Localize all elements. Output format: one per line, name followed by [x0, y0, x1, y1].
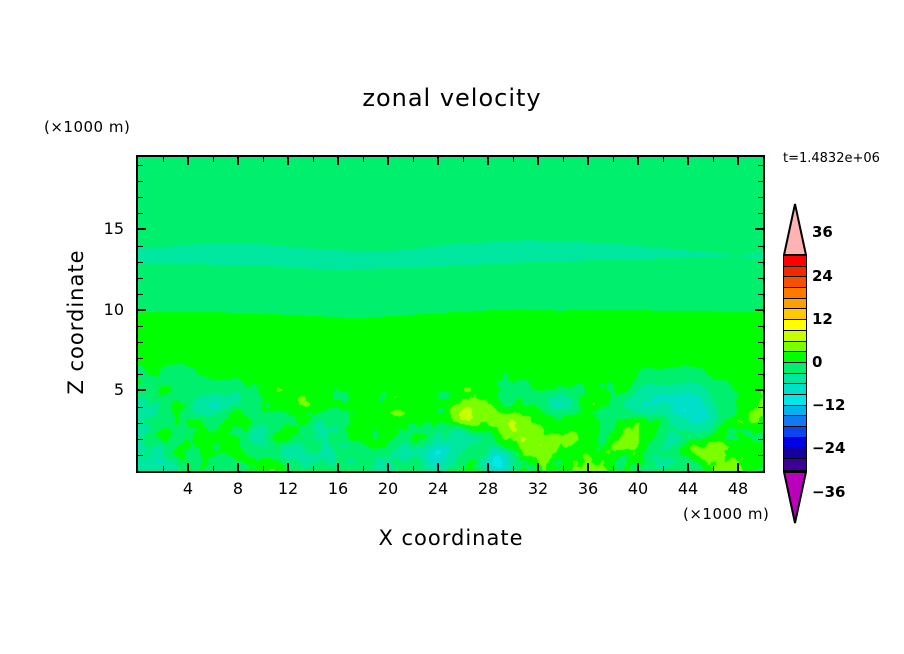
tick-x-major — [337, 157, 339, 165]
tick-x-major — [637, 157, 639, 165]
tick-x-minor — [163, 466, 164, 471]
tick-x-major — [287, 463, 289, 471]
tick-x-major — [187, 463, 189, 471]
x-tick-label: 16 — [318, 479, 358, 498]
tick-x-major — [687, 157, 689, 165]
figure-canvas: zonal velocity (×1000 m) (×1000 m) t=1.4… — [0, 0, 904, 654]
tick-x-minor — [663, 157, 664, 162]
tick-y-minor — [758, 246, 763, 247]
colorbar-tick-label: 12 — [812, 310, 833, 328]
tick-y-minor — [138, 423, 143, 424]
tick-x-minor — [163, 157, 164, 162]
tick-x-major — [587, 157, 589, 165]
colorbar-over-arrow — [783, 203, 807, 255]
tick-y-minor — [758, 439, 763, 440]
y-tick-label: 5 — [84, 380, 124, 399]
y-axis-unit-label: (×1000 m) — [44, 118, 130, 136]
colorbar-tick-label: 0 — [812, 353, 822, 371]
tick-x-major — [487, 463, 489, 471]
tick-y-minor — [758, 278, 763, 279]
tick-y-minor — [758, 262, 763, 263]
tick-x-major — [237, 157, 239, 165]
tick-x-major — [537, 157, 539, 165]
tick-y-minor — [758, 374, 763, 375]
tick-x-major — [487, 157, 489, 165]
x-tick-label: 40 — [618, 479, 658, 498]
tick-y-minor — [138, 294, 143, 295]
colorbar-band — [784, 342, 806, 353]
tick-x-major — [387, 463, 389, 471]
x-tick-label: 24 — [418, 479, 458, 498]
tick-y-major — [755, 389, 763, 391]
contour-field — [138, 157, 763, 471]
tick-x-minor — [213, 157, 214, 162]
colorbar — [783, 203, 807, 523]
tick-x-major — [337, 463, 339, 471]
x-tick-label: 32 — [518, 479, 558, 498]
tick-x-minor — [513, 157, 514, 162]
colorbar-band — [784, 288, 806, 299]
tick-y-minor — [758, 326, 763, 327]
colorbar-band — [784, 352, 806, 363]
y-tick-label: 15 — [84, 219, 124, 238]
tick-y-minor — [758, 423, 763, 424]
tick-x-major — [737, 157, 739, 165]
colorbar-band — [784, 267, 806, 278]
tick-x-major — [537, 463, 539, 471]
contour-plot-area — [136, 155, 765, 473]
y-axis-title: Z coordinate — [64, 222, 88, 422]
tick-y-minor — [138, 278, 143, 279]
colorbar-band — [784, 459, 806, 470]
tick-y-minor — [138, 165, 143, 166]
tick-y-minor — [138, 181, 143, 182]
colorbar-band — [784, 309, 806, 320]
tick-y-minor — [138, 358, 143, 359]
tick-y-minor — [138, 455, 143, 456]
tick-x-major — [637, 463, 639, 471]
tick-y-minor — [138, 342, 143, 343]
x-tick-label: 48 — [718, 479, 758, 498]
tick-x-minor — [313, 157, 314, 162]
tick-y-minor — [758, 342, 763, 343]
colorbar-band — [784, 277, 806, 288]
tick-x-major — [237, 463, 239, 471]
colorbar-band — [784, 448, 806, 459]
tick-y-minor — [758, 165, 763, 166]
colorbar-bands — [783, 255, 807, 471]
tick-x-minor — [613, 157, 614, 162]
x-tick-label: 8 — [218, 479, 258, 498]
colorbar-tick-label: 24 — [812, 267, 833, 285]
colorbar-band — [784, 384, 806, 395]
colorbar-band — [784, 395, 806, 406]
colorbar-band — [784, 331, 806, 342]
tick-x-minor — [363, 466, 364, 471]
tick-x-minor — [313, 466, 314, 471]
y-tick-label: 10 — [84, 300, 124, 319]
x-tick-label: 28 — [468, 479, 508, 498]
tick-y-minor — [758, 358, 763, 359]
tick-y-minor — [138, 262, 143, 263]
over-arrow-icon — [783, 203, 807, 256]
tick-x-major — [437, 463, 439, 471]
tick-y-major — [755, 309, 763, 311]
tick-x-minor — [713, 157, 714, 162]
tick-y-minor — [758, 213, 763, 214]
colorbar-band — [784, 320, 806, 331]
tick-y-major — [755, 228, 763, 230]
colorbar-tick-label: −36 — [812, 483, 845, 501]
tick-y-minor — [758, 197, 763, 198]
tick-x-minor — [463, 466, 464, 471]
tick-y-minor — [138, 213, 143, 214]
tick-y-minor — [758, 455, 763, 456]
colorbar-band — [784, 416, 806, 427]
tick-y-minor — [138, 326, 143, 327]
x-axis-unit-label: (×1000 m) — [683, 505, 769, 523]
tick-x-major — [737, 463, 739, 471]
colorbar-tick-label: 36 — [812, 223, 833, 241]
tick-y-major — [138, 389, 146, 391]
tick-y-minor — [138, 439, 143, 440]
tick-x-minor — [563, 157, 564, 162]
tick-x-minor — [263, 466, 264, 471]
x-tick-label: 4 — [168, 479, 208, 498]
tick-y-minor — [138, 374, 143, 375]
colorbar-tick-label: −24 — [812, 439, 845, 457]
tick-x-minor — [263, 157, 264, 162]
tick-x-minor — [413, 466, 414, 471]
tick-x-minor — [563, 466, 564, 471]
tick-x-minor — [663, 466, 664, 471]
x-tick-label: 12 — [268, 479, 308, 498]
tick-x-minor — [363, 157, 364, 162]
tick-x-major — [587, 463, 589, 471]
colorbar-band — [784, 256, 806, 267]
tick-x-major — [187, 157, 189, 165]
tick-y-minor — [758, 181, 763, 182]
tick-x-major — [437, 157, 439, 165]
x-axis-title: X coordinate — [136, 526, 766, 550]
timestamp-label: t=1.4832e+06 — [783, 151, 880, 166]
tick-x-minor — [713, 466, 714, 471]
page-title: zonal velocity — [0, 84, 904, 112]
colorbar-tick-label: −12 — [812, 396, 845, 414]
colorbar-band — [784, 406, 806, 417]
x-tick-label: 44 — [668, 479, 708, 498]
tick-y-minor — [138, 407, 143, 408]
x-tick-label: 20 — [368, 479, 408, 498]
colorbar-band — [784, 427, 806, 438]
tick-y-major — [138, 309, 146, 311]
tick-x-minor — [613, 466, 614, 471]
tick-x-minor — [213, 466, 214, 471]
tick-x-minor — [513, 466, 514, 471]
tick-x-minor — [413, 157, 414, 162]
tick-x-major — [387, 157, 389, 165]
tick-x-major — [287, 157, 289, 165]
tick-x-major — [687, 463, 689, 471]
tick-y-minor — [758, 407, 763, 408]
tick-y-minor — [758, 294, 763, 295]
colorbar-band — [784, 363, 806, 374]
colorbar-band — [784, 374, 806, 385]
under-arrow-icon — [783, 471, 807, 524]
colorbar-under-arrow — [783, 471, 807, 523]
colorbar-band — [784, 438, 806, 449]
tick-y-minor — [138, 246, 143, 247]
x-tick-label: 36 — [568, 479, 608, 498]
colorbar-band — [784, 299, 806, 310]
tick-y-major — [138, 228, 146, 230]
tick-y-minor — [138, 197, 143, 198]
tick-x-minor — [463, 157, 464, 162]
